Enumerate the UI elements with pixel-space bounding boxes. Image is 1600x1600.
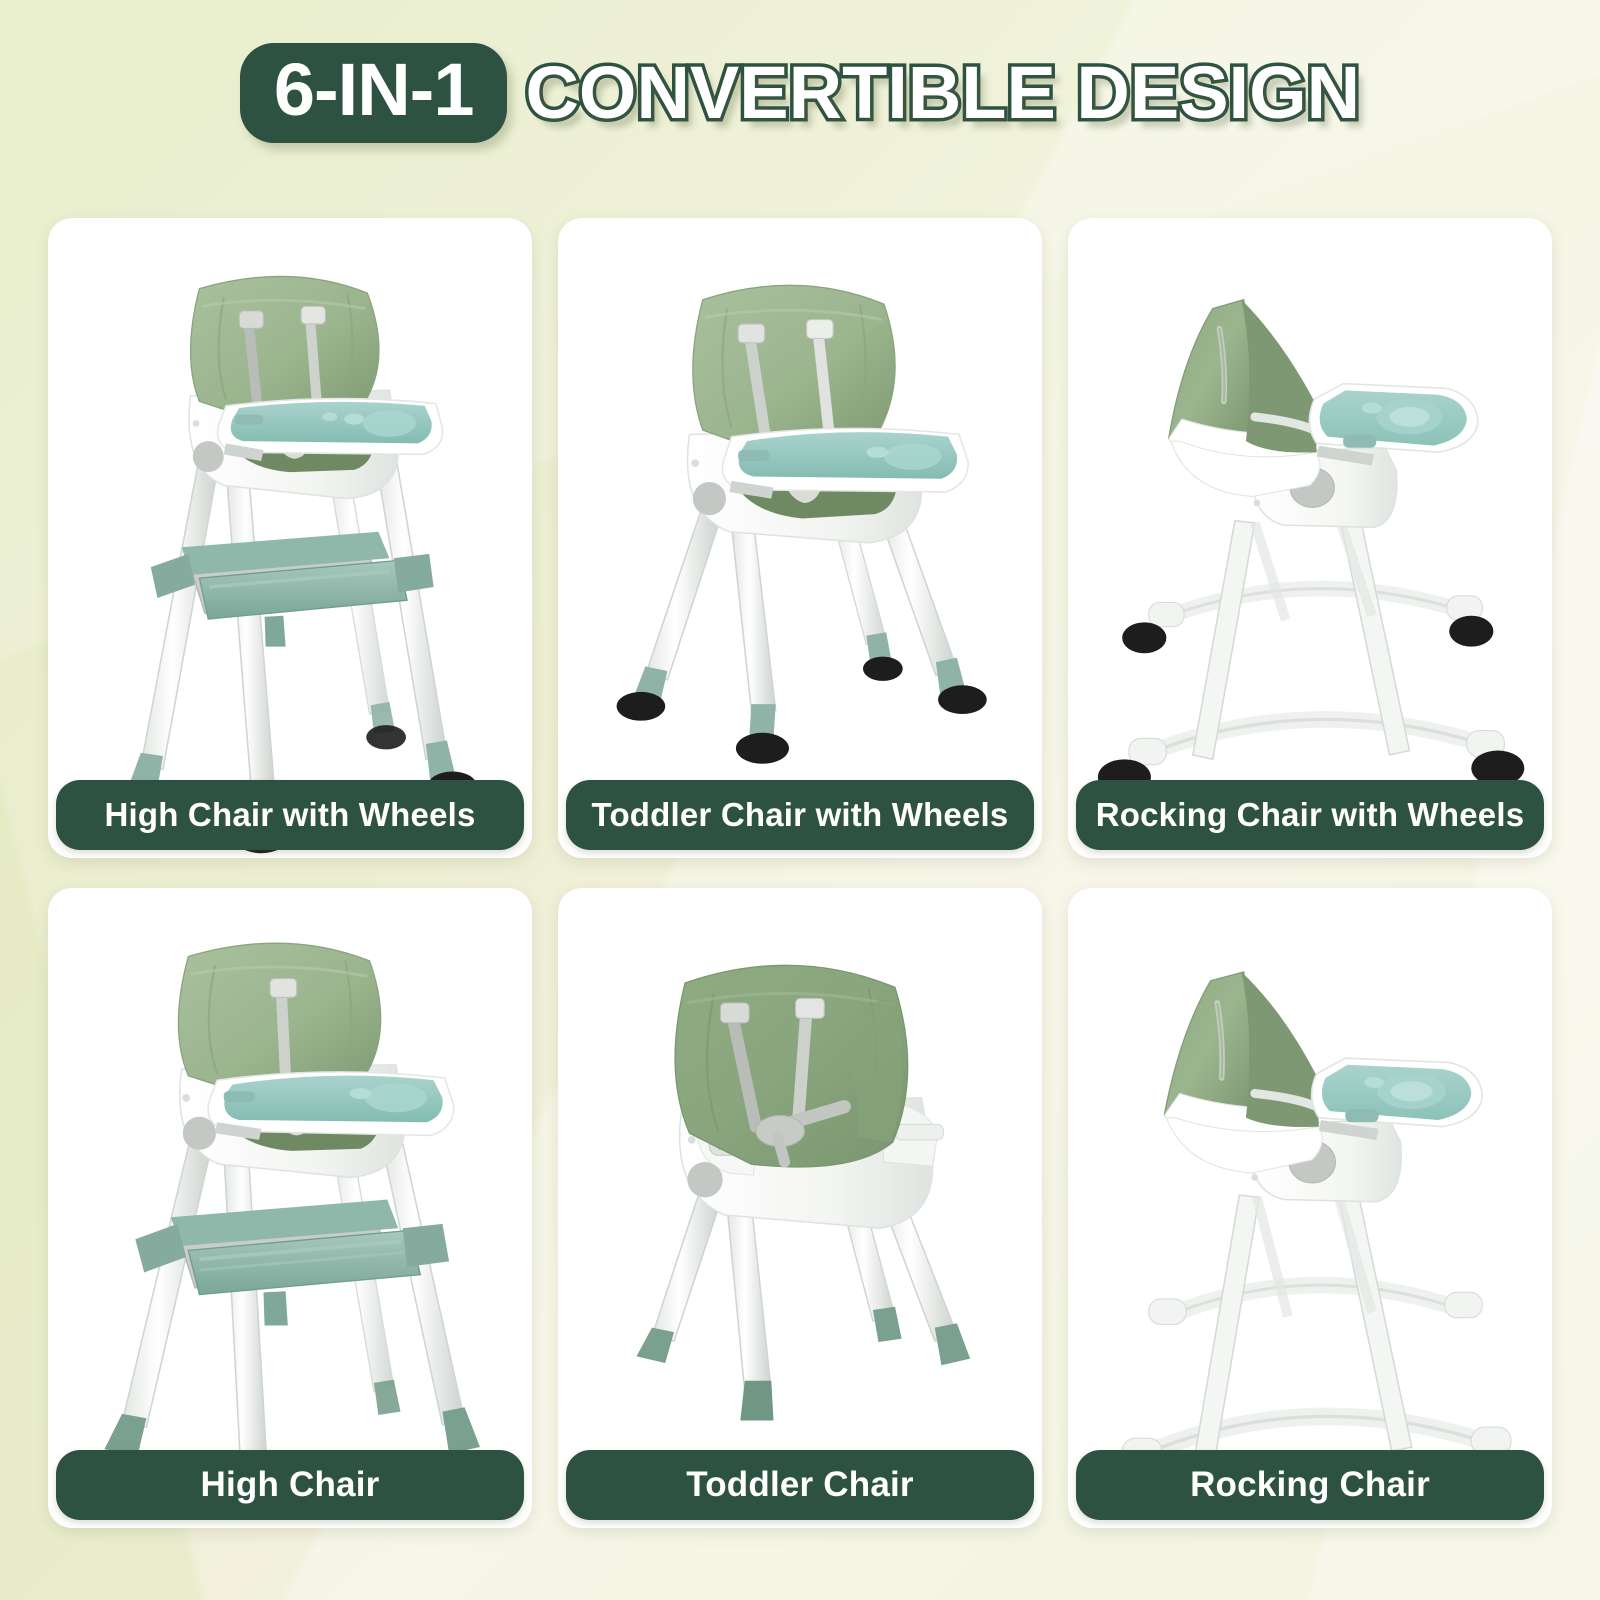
chair-wheels bbox=[1098, 616, 1524, 795]
badge-6-in-1: 6-IN-1 bbox=[240, 43, 508, 143]
page-title: CONVERTIBLE DESIGN bbox=[525, 56, 1360, 130]
seat-back-and-base bbox=[1164, 972, 1322, 1173]
card-label-high-chair-with-wheels: High Chair with Wheels bbox=[56, 780, 524, 850]
card-toddler-chair-with-wheels[interactable]: Toddler Chair with Wheels bbox=[558, 218, 1042, 858]
card-label-toddler-chair: Toddler Chair bbox=[566, 1450, 1034, 1520]
card-rocking-chair-with-wheels[interactable]: Rocking Chair with Wheels bbox=[1068, 218, 1552, 858]
card-toddler-chair[interactable]: Toddler Chair bbox=[558, 888, 1042, 1528]
card-label-rocking-chair: Rocking Chair bbox=[1076, 1450, 1544, 1520]
chair-legs bbox=[645, 510, 957, 711]
seat-back-and-base bbox=[1169, 300, 1320, 497]
chair-legs bbox=[141, 451, 447, 805]
rocker-base bbox=[1129, 589, 1505, 765]
seat-cushion bbox=[693, 285, 895, 451]
card-rocking-chair[interactable]: Rocking Chair bbox=[1068, 888, 1552, 1528]
product-image-high-chair-with-wheels bbox=[48, 218, 532, 858]
chair-rubber-feet bbox=[636, 1307, 970, 1421]
product-image-rocking-chair bbox=[1068, 888, 1552, 1528]
product-image-rocking-chair-with-wheels bbox=[1068, 218, 1552, 858]
seat-cushion bbox=[191, 276, 379, 419]
card-label-toddler-chair-with-wheels: Toddler Chair with Wheels bbox=[566, 780, 1034, 850]
product-image-toddler-chair-with-wheels bbox=[558, 218, 1042, 858]
card-label-high-chair: High Chair bbox=[56, 1450, 524, 1520]
card-high-chair[interactable]: High Chair bbox=[48, 888, 532, 1528]
card-label-rocking-chair-with-wheels: Rocking Chair with Wheels bbox=[1076, 780, 1544, 850]
feeding-tray bbox=[1312, 1058, 1483, 1140]
chair-legs bbox=[122, 1133, 464, 1480]
product-image-high-chair bbox=[48, 888, 532, 1528]
variant-grid: High Chair with Wheels bbox=[48, 218, 1552, 1528]
feeding-tray bbox=[218, 399, 443, 461]
feeding-tray bbox=[208, 1072, 454, 1140]
product-image-toddler-chair bbox=[558, 888, 1042, 1528]
card-high-chair-with-wheels[interactable]: High Chair with Wheels bbox=[48, 218, 532, 858]
header: 6-IN-1 CONVERTIBLE DESIGN bbox=[0, 0, 1600, 185]
rocker-base bbox=[1122, 1285, 1511, 1466]
feeding-tray bbox=[723, 428, 969, 498]
feeding-tray bbox=[1309, 384, 1478, 466]
